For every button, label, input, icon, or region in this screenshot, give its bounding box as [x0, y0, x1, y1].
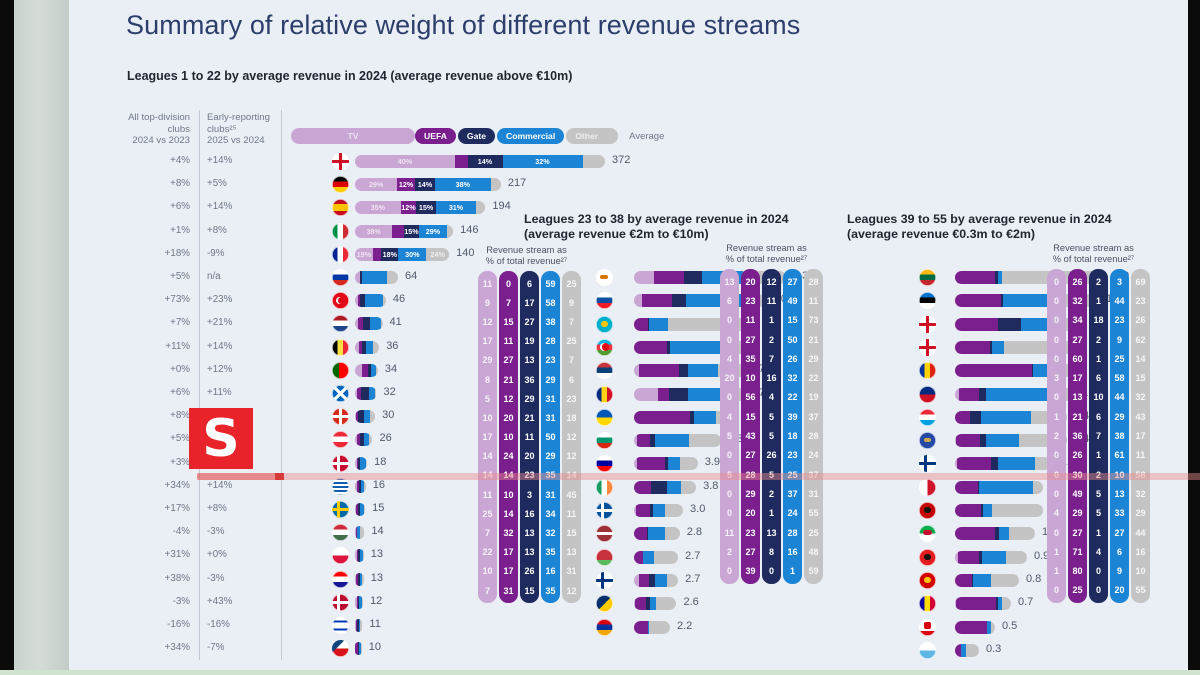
progress-played	[197, 473, 279, 480]
pct-cell: 1	[783, 561, 802, 580]
bar-segment-other	[649, 621, 670, 634]
pct-cell: 55	[804, 504, 823, 523]
bar-segment-uefa	[634, 551, 643, 564]
pct-cell: 14	[499, 504, 518, 523]
pct-cell: 11	[804, 291, 823, 310]
bar-segment-gate: 14%	[415, 178, 435, 191]
stacked-bar	[955, 457, 1051, 470]
pct-cell: 21	[1068, 407, 1087, 426]
bar-segment-other	[476, 201, 485, 214]
pct-cell: 27	[499, 351, 518, 370]
section-heading: Leagues 39 to 55 by average revenue in 2…	[847, 212, 1111, 242]
pct-cell: 35	[541, 581, 560, 600]
pct-matrix-title-line-1: % of total revenue²⁷	[474, 256, 579, 267]
flag-icon-luxembourg	[919, 409, 936, 426]
pct-cell: 43	[741, 426, 760, 445]
bar-segment-commercial: 32%	[503, 155, 583, 168]
flag-icon-germany	[332, 176, 349, 193]
pct-cell: 49	[783, 291, 802, 310]
chart-row-albania: 0.9	[69, 548, 429, 569]
pct-cell: 4	[1047, 504, 1066, 523]
flag-icon-northmacedonia	[919, 572, 936, 589]
pct-cell: 13	[762, 523, 781, 542]
average-value: 3.9	[705, 456, 720, 468]
pct-cell: 43	[1131, 407, 1150, 426]
pct-cell: 9	[478, 293, 497, 312]
change-early-clubs: +14%	[207, 201, 263, 212]
stacked-bar: 40%14%32%	[355, 155, 605, 168]
column-header-all-clubs: All top-divisionclubs2024 vs 2023	[114, 112, 190, 147]
average-value: 3.8	[703, 480, 718, 492]
bar-segment-other	[681, 481, 696, 494]
pct-cell: 25	[1110, 349, 1129, 368]
chart-row-northern-ireland: 1.6	[69, 315, 429, 336]
pct-cell: 60	[1068, 349, 1087, 368]
page-title: Summary of relative weight of different …	[126, 10, 800, 41]
flag-icon-malta	[919, 479, 936, 496]
pct-cell: 3	[1047, 368, 1066, 387]
bar-segment-gate: 14%	[468, 155, 503, 168]
pct-cell: 5	[762, 407, 781, 426]
pct-cell: 17	[478, 428, 497, 447]
pct-matrix: 1191217298510171414112572210707151127211…	[478, 271, 583, 603]
pct-cell: 49	[1068, 484, 1087, 503]
pct-cell: 16	[520, 504, 539, 523]
pct-cell: 12	[562, 581, 581, 600]
pct-cell: 36	[520, 370, 539, 389]
bar-segment-uefa	[955, 574, 972, 587]
pct-cell: 73	[804, 311, 823, 330]
stacked-bar	[634, 457, 698, 470]
pct-matrix-column-uefa: 2632342760171321362630492927718025	[1068, 269, 1087, 603]
bar-segment-uefa	[373, 248, 381, 261]
pct-cell: 13	[1068, 388, 1087, 407]
pct-cell: 31	[541, 485, 560, 504]
bar-segment-uefa	[658, 388, 670, 401]
pct-cell: 29	[741, 484, 760, 503]
pct-cell: 1	[762, 504, 781, 523]
pct-cell: 50	[783, 330, 802, 349]
pct-cell: 34	[541, 504, 560, 523]
section-heading-line-0: Leagues 39 to 55 by average revenue in 2…	[847, 212, 1111, 227]
pct-cell: 31	[562, 562, 581, 581]
pct-cell: 19	[520, 332, 539, 351]
pct-cell: 27	[520, 312, 539, 331]
pct-cell: 26	[1068, 272, 1087, 291]
bar-segment-uefa	[955, 411, 970, 424]
bar-segment-gate	[991, 457, 998, 470]
flag-icon-montenegro	[919, 502, 936, 519]
flag-icon-estonia	[919, 292, 936, 309]
change-all-clubs: +4%	[114, 155, 190, 166]
pct-matrix-column-commercial: 344239255844293861101333276920	[1110, 269, 1129, 603]
pct-cell: 13	[720, 272, 739, 291]
pct-cell: 20	[499, 408, 518, 427]
window-right-edge	[1188, 0, 1200, 675]
pct-cell: 27	[783, 272, 802, 291]
bar-segment-other	[680, 457, 698, 470]
bar-segment-other	[966, 644, 979, 657]
change-all-clubs: +6%	[114, 201, 190, 212]
chart-row-wales: 1.0	[69, 524, 429, 545]
pct-cell: 0	[720, 484, 739, 503]
pct-cell: 6	[562, 370, 581, 389]
pct-matrix-column-tv: 00000301200040110	[1047, 269, 1066, 603]
bar-segment-commercial	[982, 551, 1006, 564]
pct-cell: 32	[499, 523, 518, 542]
bar-segment-uefa	[955, 527, 995, 540]
pct-cell: 15	[499, 312, 518, 331]
pct-cell: 12	[762, 272, 781, 291]
pct-cell: 38	[541, 312, 560, 331]
stacked-bar	[955, 551, 1027, 564]
bar-segment-uefa	[955, 341, 990, 354]
pct-cell: 0	[1047, 484, 1066, 503]
bar-segment-commercial	[983, 504, 992, 517]
change-early-clubs: +8%	[207, 225, 263, 236]
column-header-early-clubs: Early-reportingclubs²⁵2025 vs 2024	[207, 112, 277, 147]
bar-segment-commercial: 31%	[436, 201, 476, 214]
pct-matrix-column-tv: 11912172985101714141125722107	[478, 271, 497, 603]
pct-cell: 13	[1110, 484, 1129, 503]
pct-cell: 6	[1089, 368, 1108, 387]
pct-cell: 13	[520, 351, 539, 370]
window-left-edge	[0, 0, 14, 675]
stacked-bar	[955, 621, 995, 634]
pct-cell: 31	[541, 408, 560, 427]
average-value: 0.8	[1026, 573, 1041, 585]
bar-segment-gate: 18%	[381, 248, 398, 261]
pct-cell: 9	[1110, 330, 1129, 349]
pct-cell: 0	[1047, 523, 1066, 542]
pct-cell: 80	[1068, 561, 1087, 580]
bar-segment-uefa	[634, 411, 690, 424]
col1-header-line-1: clubs	[114, 124, 190, 136]
video-progress-bar[interactable]	[197, 473, 1200, 480]
bar-segment-uefa	[639, 364, 680, 377]
pct-cell: 0	[720, 311, 739, 330]
stacked-bar: 35%12%15%31%	[355, 201, 485, 214]
chart-row-andorra: 0.7	[69, 594, 429, 615]
pct-cell: 2	[762, 330, 781, 349]
pct-cell: 16	[1131, 542, 1150, 561]
pct-cell: 26	[762, 446, 781, 465]
pct-cell: 22	[478, 543, 497, 562]
bar-segment-other	[665, 504, 683, 517]
pct-cell: 29	[541, 447, 560, 466]
pct-cell: 5	[478, 389, 497, 408]
pct-cell: 71	[1068, 542, 1087, 561]
pct-cell: 14	[478, 447, 497, 466]
pct-cell: 29	[520, 389, 539, 408]
pct-cell: 0	[1047, 272, 1066, 291]
bar-segment-other: 24%	[426, 248, 449, 261]
pct-cell: 27	[741, 446, 760, 465]
bar-segment-tv: 19%	[355, 248, 373, 261]
bar-segment-uefa: 12%	[401, 201, 417, 214]
pct-cell: 11	[741, 311, 760, 330]
pct-cell: 44	[1110, 291, 1129, 310]
bar-segment-commercial	[650, 597, 657, 610]
pct-cell: 10	[499, 428, 518, 447]
pct-cell: 2	[720, 542, 739, 561]
pct-cell: 4	[1089, 542, 1108, 561]
bar-segment-uefa	[634, 527, 647, 540]
pct-cell: 7	[499, 293, 518, 312]
pct-cell: 14	[1131, 349, 1150, 368]
flag-icon-azerbaijan	[596, 339, 613, 356]
legend-pill-other[interactable]: Other	[566, 128, 618, 144]
stacked-bar: 29%12%14%38%	[355, 178, 501, 191]
col2-header-line-0: Early-reporting	[207, 112, 277, 124]
flag-icon-albania	[919, 549, 936, 566]
stacked-bar	[955, 597, 1011, 610]
pct-cell: 22	[804, 368, 823, 387]
section-heading-line-0: Leagues 23 to 38 by average revenue in 2…	[524, 212, 788, 227]
change-early-clubs: +5%	[207, 178, 263, 189]
pct-cell: 29	[804, 349, 823, 368]
pct-cell: 26	[1131, 311, 1150, 330]
bar-segment-uefa	[637, 457, 665, 470]
pct-cell: 0	[1047, 388, 1066, 407]
chart-row-england: +4%+14%40%14%32%372	[69, 152, 629, 173]
pct-matrix-column-commercial: 5958382823293131502935313432351635	[541, 271, 560, 603]
bar-segment-other	[583, 155, 606, 168]
bar-segment-other	[665, 527, 679, 540]
pct-cell: 25	[562, 332, 581, 351]
pct-cell: 18	[1089, 311, 1108, 330]
pct-cell: 24	[783, 504, 802, 523]
progress-knob[interactable]	[275, 473, 284, 480]
bar-segment-uefa	[955, 318, 998, 331]
pct-cell: 2	[1047, 426, 1066, 445]
bar-segment-uefa	[634, 621, 648, 634]
pct-cell: 48	[804, 542, 823, 561]
pct-cell: 12	[478, 312, 497, 331]
pct-cell: 25	[478, 504, 497, 523]
pct-cell: 1	[1047, 561, 1066, 580]
pct-matrix-column-uefa: 07151127211220102414101432171731	[499, 271, 518, 603]
average-value: 3.0	[690, 503, 705, 515]
bar-segment-commercial	[649, 318, 668, 331]
bar-segment-uefa	[955, 504, 981, 517]
average-value: 0.7	[1018, 596, 1033, 608]
bar-segment-uefa	[634, 341, 667, 354]
pct-cell: 32	[1068, 291, 1087, 310]
pct-cell: 69	[1131, 272, 1150, 291]
average-value: 0.5	[1002, 620, 1017, 632]
pct-cell: 15	[783, 311, 802, 330]
bar-segment-uefa	[957, 457, 992, 470]
average-value: 2.6	[683, 596, 698, 608]
pct-cell: 26	[1068, 446, 1087, 465]
pct-cell: 29	[1110, 407, 1129, 426]
legend-pill-gate[interactable]: Gate	[458, 128, 495, 144]
pct-cell: 20	[720, 368, 739, 387]
pct-cell: 44	[1131, 523, 1150, 542]
bar-segment-uefa	[654, 271, 684, 284]
pct-cell: 37	[804, 407, 823, 426]
bar-segment-other	[1006, 551, 1027, 564]
flag-icon-bulgaria	[596, 432, 613, 449]
pct-cell: 1	[1089, 523, 1108, 542]
pct-cell: 27	[1110, 523, 1129, 542]
col2-header-line-2: 2025 vs 2024	[207, 135, 277, 147]
pct-cell: 11	[1131, 446, 1150, 465]
bar-segment-uefa	[392, 225, 404, 238]
pct-cell: 22	[783, 388, 802, 407]
bar-segment-other	[667, 574, 678, 587]
stacked-bar	[955, 574, 1019, 587]
pct-matrix-column-other: 28117321292219372824373155254859	[804, 269, 823, 584]
pct-cell: 0	[720, 504, 739, 523]
pct-cell: 10	[478, 562, 497, 581]
flag-icon-andorra	[919, 595, 936, 612]
section-heading-line-1: (average revenue €2m to €10m)	[524, 227, 788, 242]
stacked-bar: 38%15%29%	[355, 225, 453, 238]
flag-icon-armenia	[596, 619, 613, 636]
pct-cell: 5	[762, 426, 781, 445]
pct-cell: 16	[762, 368, 781, 387]
pct-matrix-column-uefa: 20231127351056154327282920232739	[741, 269, 760, 584]
pct-cell: 8	[478, 370, 497, 389]
pct-cell: 11	[762, 291, 781, 310]
pct-cell: 18	[783, 426, 802, 445]
pct-cell: 6	[1110, 542, 1129, 561]
pct-cell: 20	[741, 504, 760, 523]
pct-cell: 23	[741, 291, 760, 310]
pct-matrix-title-line-0: Revenue stream as	[1041, 243, 1146, 254]
bar-segment-other	[656, 597, 676, 610]
pct-cell: 6	[520, 274, 539, 293]
pct-cell: 11	[562, 504, 581, 523]
bar-segment-commercial	[643, 551, 654, 564]
pct-matrix-title: Revenue stream as% of total revenue²⁷	[714, 243, 819, 265]
pct-cell: 11	[520, 428, 539, 447]
pct-cell: 11	[499, 332, 518, 351]
pct-cell: 0	[1047, 291, 1066, 310]
pct-cell: 1	[1047, 407, 1066, 426]
chart-row-north-macedonia: 0.8	[69, 571, 429, 592]
chart-row-estonia: 1.8	[69, 291, 429, 312]
chart-row-georgia: 1.6	[69, 338, 429, 359]
bar-segment-uefa	[959, 388, 980, 401]
pct-matrix-title-line-0: Revenue stream as	[474, 245, 579, 256]
pct-cell: 61	[1110, 446, 1129, 465]
pct-cell: 15	[562, 523, 581, 542]
bar-segment-commercial	[986, 434, 1018, 447]
flag-icon-spain	[332, 199, 349, 216]
pct-cell: 2	[762, 484, 781, 503]
legend-pill-tv[interactable]: TV	[291, 128, 415, 144]
pct-cell: 4	[720, 407, 739, 426]
average-value: 194	[492, 200, 510, 212]
flag-icon-england	[332, 153, 349, 170]
pct-cell: 5	[1089, 504, 1108, 523]
pct-cell: 27	[1068, 523, 1087, 542]
bar-segment-other	[1002, 597, 1011, 610]
legend-pill-uefa[interactable]: UEFA	[415, 128, 456, 144]
bar-segment-uefa	[639, 574, 649, 587]
pct-cell: 28	[541, 332, 560, 351]
flag-icon-ukraine	[596, 409, 613, 426]
pct-matrix-column-gate: 121112716455265211380	[762, 269, 781, 584]
pct-cell: 13	[562, 543, 581, 562]
pct-cell: 29	[1131, 504, 1150, 523]
pct-matrix-column-other: 259725762318121214451115133112	[562, 271, 581, 603]
flag-icon-georgia	[919, 339, 936, 356]
flag-icon-moldova	[919, 362, 936, 379]
pct-cell: 21	[499, 370, 518, 389]
col1-header-line-2: 2024 vs 2023	[114, 135, 190, 147]
bar-segment-other	[689, 434, 721, 447]
pct-cell: 58	[1110, 368, 1129, 387]
stacked-bar	[634, 551, 678, 564]
viewer-grey-band	[14, 0, 69, 675]
pct-cell: 6	[720, 291, 739, 310]
flag-icon-romania	[596, 386, 613, 403]
bar-segment-other	[1033, 481, 1043, 494]
flag-icon-belarus	[596, 549, 613, 566]
bar-segment-uefa	[955, 294, 1001, 307]
bar-segment-gate: 15%	[416, 201, 436, 214]
pct-cell: 27	[741, 542, 760, 561]
pct-cell: 15	[1131, 368, 1150, 387]
chart-row-moldova: 1.6	[69, 361, 429, 382]
flag-icon-cyprus	[596, 269, 613, 286]
pct-cell: 21	[520, 408, 539, 427]
change-all-clubs: +18%	[114, 248, 190, 259]
bar-segment-other	[992, 504, 1043, 517]
bar-segment-gate	[970, 411, 981, 424]
pct-cell: 1	[1047, 542, 1066, 561]
pct-cell: 12	[499, 389, 518, 408]
pct-cell: 58	[541, 293, 560, 312]
pct-cell: 26	[783, 349, 802, 368]
average-value: 2.7	[685, 550, 700, 562]
pct-cell: 27	[741, 330, 760, 349]
pct-cell: 32	[783, 368, 802, 387]
pct-cell: 0	[1089, 581, 1108, 600]
pct-cell: 7	[562, 351, 581, 370]
window-bottom-edge	[0, 670, 1200, 675]
pct-matrix-column-other: 6923266214153243171158322944161055	[1131, 269, 1150, 603]
bar-segment-gate	[679, 364, 687, 377]
bar-segment-uefa	[955, 621, 987, 634]
pct-cell: 28	[804, 426, 823, 445]
bar-segment-gate	[684, 271, 702, 284]
pct-cell: 9	[1110, 561, 1129, 580]
legend-pill-commercial[interactable]: Commercial	[497, 128, 564, 144]
pct-cell: 6	[1089, 407, 1108, 426]
pct-cell: 5	[1089, 484, 1108, 503]
pct-cell: 8	[762, 542, 781, 561]
pct-cell: 25	[804, 523, 823, 542]
bar-segment-tv: 29%	[355, 178, 397, 191]
chart-row-malta: 1.1	[69, 478, 429, 499]
pct-cell: 4	[762, 388, 781, 407]
pct-cell: 23	[783, 446, 802, 465]
bar-segment-tv	[634, 294, 642, 307]
flag-icon-kosovo	[919, 432, 936, 449]
bar-segment-commercial	[999, 527, 1010, 540]
average-value: 217	[508, 177, 526, 189]
bar-segment-tv: 40%	[355, 155, 455, 168]
average-value: 146	[460, 224, 478, 236]
bar-segment-gate	[998, 318, 1021, 331]
flag-icon-italy	[332, 223, 349, 240]
pct-cell: 12	[562, 447, 581, 466]
